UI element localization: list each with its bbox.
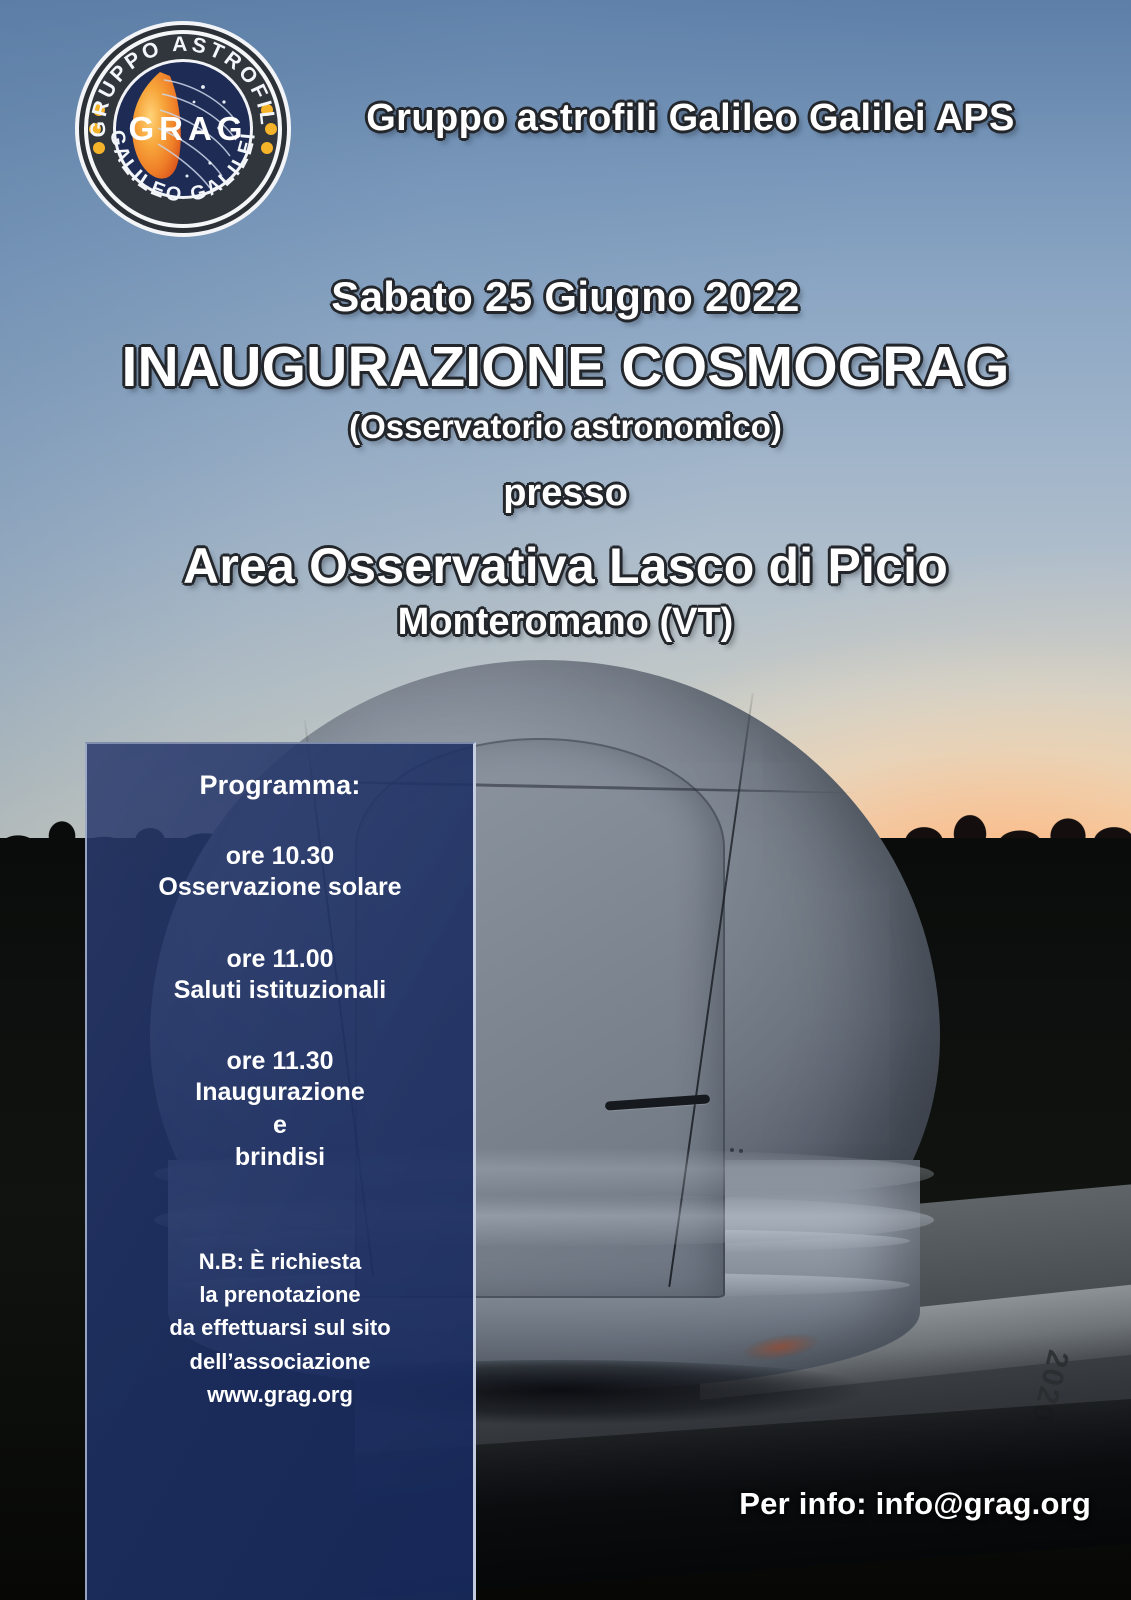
booking-note-line: N.B: È richiesta xyxy=(101,1245,459,1278)
program-panel: Programma: ore 10.30 Osservazione solare… xyxy=(85,742,476,1600)
event-title: INAUGURAZIONE COSMOGRAG xyxy=(0,336,1131,400)
contact-info[interactable]: Per info: info@grag.org xyxy=(739,1486,1091,1522)
program-slot-time: ore 10.30 xyxy=(101,841,459,872)
program-slot-desc: Inaugurazione xyxy=(101,1077,459,1108)
program-slot-desc: Osservazione solare xyxy=(101,872,459,903)
program-slot: ore 11.30 Inaugurazione e brindisi xyxy=(101,1046,459,1173)
poster-root: 2020 xyxy=(0,0,1131,1600)
booking-note-line: la prenotazione xyxy=(101,1278,459,1311)
program-slot: ore 10.30 Osservazione solare xyxy=(101,841,459,904)
brand-title: Gruppo astrofili Galileo Galilei APS xyxy=(0,97,1131,140)
booking-note-line: da effettuarsi sul sito xyxy=(101,1311,459,1344)
program-slot-conjunction: e xyxy=(101,1109,459,1141)
venue-preposition: presso xyxy=(0,472,1131,516)
program-slot-desc-extra: brindisi xyxy=(101,1141,459,1173)
program-heading: Programma: xyxy=(101,770,459,801)
program-slot-time: ore 11.30 xyxy=(101,1046,459,1077)
event-subtitle: (Osservatorio astronomico) xyxy=(0,408,1131,446)
booking-note-line: dell’associazione xyxy=(101,1345,459,1378)
booking-note-website[interactable]: www.grag.org xyxy=(101,1378,459,1411)
program-slot: ore 11.00 Saluti istituzionali xyxy=(101,944,459,1007)
venue-town: Monteromano (VT) xyxy=(0,601,1131,645)
event-date: Sabato 25 Giugno 2022 xyxy=(0,272,1131,322)
program-slot-desc: Saluti istituzionali xyxy=(101,975,459,1006)
title-block: Sabato 25 Giugno 2022 INAUGURAZIONE COSM… xyxy=(0,272,1131,645)
program-slot-time: ore 11.00 xyxy=(101,944,459,975)
venue-name: Area Osservativa Lasco di Picio xyxy=(0,538,1131,595)
booking-note: N.B: È richiesta la prenotazione da effe… xyxy=(101,1245,459,1412)
